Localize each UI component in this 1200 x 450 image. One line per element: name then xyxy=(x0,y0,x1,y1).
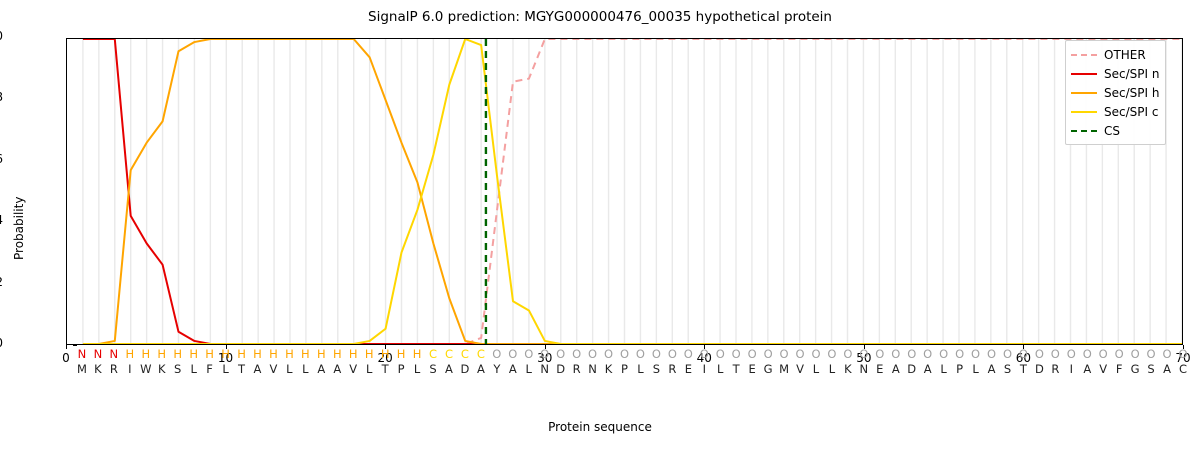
region-label: O xyxy=(999,347,1015,362)
legend-item-sec-spi-n[interactable]: Sec/SPI n xyxy=(1071,64,1159,83)
residue-label: L xyxy=(218,362,234,377)
region-label: H xyxy=(377,347,393,362)
residue-label: G xyxy=(760,362,776,377)
residue-label: F xyxy=(1111,362,1127,377)
legend-swatch-icon xyxy=(1071,124,1097,138)
region-label: O xyxy=(1175,347,1191,362)
residue-label: V xyxy=(1095,362,1111,377)
y-tick-label: 0.8 xyxy=(0,90,3,104)
residue-label: A xyxy=(505,362,521,377)
region-label: O xyxy=(664,347,680,362)
residue-label: T xyxy=(377,362,393,377)
residue-label: T xyxy=(234,362,250,377)
region-label: H xyxy=(138,347,154,362)
residue-label: R xyxy=(1047,362,1063,377)
residue-label: K xyxy=(154,362,170,377)
residue-label: R xyxy=(106,362,122,377)
region-label: O xyxy=(760,347,776,362)
data-curves xyxy=(67,39,1182,344)
residue-label: S xyxy=(648,362,664,377)
residue-label: S xyxy=(170,362,186,377)
legend-item-other[interactable]: OTHER xyxy=(1071,45,1159,64)
region-annotation-row: NNNHHHHHHHHHHHHHHHHHHHCCCCOOOOOOOOOOOOOO… xyxy=(66,347,1183,362)
residue-label: L xyxy=(521,362,537,377)
residue-label: N xyxy=(585,362,601,377)
residue-label: A xyxy=(1079,362,1095,377)
y-tick-label: 0.6 xyxy=(0,152,3,166)
residue-label: A xyxy=(1159,362,1175,377)
region-label: C xyxy=(457,347,473,362)
y-tick-label: 1.0 xyxy=(0,29,3,43)
residue-label: L xyxy=(632,362,648,377)
region-label: H xyxy=(218,347,234,362)
curve-sec-spi-n xyxy=(83,39,1182,344)
residue-label: G xyxy=(1127,362,1143,377)
region-label: O xyxy=(824,347,840,362)
residue-label: E xyxy=(680,362,696,377)
region-label: H xyxy=(154,347,170,362)
residue-label: I xyxy=(122,362,138,377)
region-label: O xyxy=(888,347,904,362)
residue-label: A xyxy=(441,362,457,377)
region-label: O xyxy=(521,347,537,362)
region-label: O xyxy=(936,347,952,362)
curve-other xyxy=(83,39,1182,344)
residue-label: P xyxy=(393,362,409,377)
region-label: C xyxy=(425,347,441,362)
y-tick-label: 0.4 xyxy=(0,213,3,227)
x-axis-label: Protein sequence xyxy=(0,420,1200,434)
region-label: O xyxy=(1015,347,1031,362)
region-label: H xyxy=(361,347,377,362)
residue-label: C xyxy=(1175,362,1191,377)
legend-label: Sec/SPI c xyxy=(1104,105,1158,119)
region-label: O xyxy=(776,347,792,362)
region-label: N xyxy=(90,347,106,362)
region-label: O xyxy=(1079,347,1095,362)
legend-label: Sec/SPI h xyxy=(1104,86,1159,100)
region-label: O xyxy=(904,347,920,362)
residue-label: T xyxy=(728,362,744,377)
residue-label: D xyxy=(904,362,920,377)
region-label: O xyxy=(920,347,936,362)
residue-label: E xyxy=(744,362,760,377)
residue-label: L xyxy=(712,362,728,377)
region-label: H xyxy=(313,347,329,362)
residue-label: Y xyxy=(489,362,505,377)
region-label: O xyxy=(856,347,872,362)
residue-label: S xyxy=(999,362,1015,377)
region-label: O xyxy=(1031,347,1047,362)
residue-label: A xyxy=(888,362,904,377)
legend-label: Sec/SPI n xyxy=(1104,67,1159,81)
plot-area xyxy=(66,38,1183,345)
residue-label: R xyxy=(569,362,585,377)
region-label: O xyxy=(952,347,968,362)
residue-label: V xyxy=(792,362,808,377)
region-label: O xyxy=(553,347,569,362)
region-label: H xyxy=(281,347,297,362)
region-label: C xyxy=(441,347,457,362)
y-tick-label: 0.0 xyxy=(0,336,3,350)
residue-label: M xyxy=(776,362,792,377)
residue-label: K xyxy=(90,362,106,377)
region-label: O xyxy=(569,347,585,362)
region-label: O xyxy=(744,347,760,362)
y-axis-label: Probability xyxy=(12,197,26,260)
region-label: H xyxy=(170,347,186,362)
region-label: O xyxy=(1159,347,1175,362)
legend[interactable]: OTHERSec/SPI nSec/SPI hSec/SPI cCS xyxy=(1065,40,1166,145)
region-label: N xyxy=(74,347,90,362)
residue-label: L xyxy=(808,362,824,377)
residue-label: A xyxy=(984,362,1000,377)
legend-swatch-icon xyxy=(1071,67,1097,81)
y-tick-mark xyxy=(73,345,77,346)
region-label: O xyxy=(489,347,505,362)
region-label: H xyxy=(122,347,138,362)
region-label: O xyxy=(696,347,712,362)
region-label: O xyxy=(680,347,696,362)
region-label: O xyxy=(648,347,664,362)
residue-label: S xyxy=(1143,362,1159,377)
page-title: SignalP 6.0 prediction: MGYG000000476_00… xyxy=(0,9,1200,25)
legend-item-sec-spi-c[interactable]: Sec/SPI c xyxy=(1071,102,1159,121)
residue-label: A xyxy=(329,362,345,377)
residue-label: K xyxy=(601,362,617,377)
region-label: H xyxy=(249,347,265,362)
signalp-plot-figure: SignalP 6.0 prediction: MGYG000000476_00… xyxy=(0,0,1200,450)
legend-swatch-icon xyxy=(1071,86,1097,100)
region-label: O xyxy=(984,347,1000,362)
region-label: O xyxy=(792,347,808,362)
residue-label: I xyxy=(1063,362,1079,377)
region-label: H xyxy=(329,347,345,362)
region-label: O xyxy=(1127,347,1143,362)
residue-label: W xyxy=(138,362,154,377)
legend-item-cs[interactable]: CS xyxy=(1071,121,1159,140)
residue-label: L xyxy=(361,362,377,377)
region-label: O xyxy=(712,347,728,362)
region-label: H xyxy=(186,347,202,362)
region-label: H xyxy=(297,347,313,362)
region-label: H xyxy=(409,347,425,362)
region-label: O xyxy=(585,347,601,362)
region-label: O xyxy=(601,347,617,362)
region-label: O xyxy=(840,347,856,362)
residue-label: P xyxy=(952,362,968,377)
residue-label: T xyxy=(1015,362,1031,377)
residue-label: D xyxy=(457,362,473,377)
region-label: O xyxy=(505,347,521,362)
residue-label: A xyxy=(920,362,936,377)
residue-label: K xyxy=(840,362,856,377)
region-label: O xyxy=(1111,347,1127,362)
region-label: O xyxy=(872,347,888,362)
region-label: O xyxy=(632,347,648,362)
curve-sec-spi-h xyxy=(83,39,1182,344)
legend-item-sec-spi-h[interactable]: Sec/SPI h xyxy=(1071,83,1159,102)
residue-label: M xyxy=(74,362,90,377)
region-label: O xyxy=(537,347,553,362)
residue-label: L xyxy=(186,362,202,377)
region-label: O xyxy=(1047,347,1063,362)
region-label: H xyxy=(202,347,218,362)
region-label: O xyxy=(617,347,633,362)
residue-label: L xyxy=(936,362,952,377)
region-label: O xyxy=(1063,347,1079,362)
region-label: O xyxy=(1143,347,1159,362)
residue-label: L xyxy=(409,362,425,377)
curve-sec-spi-c xyxy=(83,39,1182,344)
residue-label: D xyxy=(1031,362,1047,377)
residue-label: A xyxy=(313,362,329,377)
residue-label: N xyxy=(537,362,553,377)
region-label: O xyxy=(808,347,824,362)
y-tick-label: 0.2 xyxy=(0,275,3,289)
residue-label: P xyxy=(617,362,633,377)
residue-label: L xyxy=(968,362,984,377)
region-label: C xyxy=(473,347,489,362)
region-label: H xyxy=(345,347,361,362)
sequence-annotation-row: MKRIWKSLFLTAVLLAAVLTPLSADAYALNDRNKPLSREI… xyxy=(66,362,1183,377)
region-label: H xyxy=(265,347,281,362)
residue-label: A xyxy=(473,362,489,377)
residue-label: R xyxy=(664,362,680,377)
residue-label: E xyxy=(872,362,888,377)
residue-label: V xyxy=(265,362,281,377)
residue-label: L xyxy=(281,362,297,377)
legend-swatch-icon xyxy=(1071,105,1097,119)
residue-label: I xyxy=(696,362,712,377)
region-label: N xyxy=(106,347,122,362)
residue-label: L xyxy=(824,362,840,377)
legend-swatch-icon xyxy=(1071,48,1097,62)
region-label: O xyxy=(728,347,744,362)
residue-label: D xyxy=(553,362,569,377)
region-label: O xyxy=(1095,347,1111,362)
residue-label: A xyxy=(249,362,265,377)
residue-label: L xyxy=(297,362,313,377)
region-label: O xyxy=(968,347,984,362)
region-label: H xyxy=(234,347,250,362)
region-label: H xyxy=(393,347,409,362)
residue-label: F xyxy=(202,362,218,377)
legend-label: OTHER xyxy=(1104,48,1146,62)
residue-label: N xyxy=(856,362,872,377)
legend-label: CS xyxy=(1104,124,1120,138)
residue-label: S xyxy=(425,362,441,377)
residue-label: V xyxy=(345,362,361,377)
